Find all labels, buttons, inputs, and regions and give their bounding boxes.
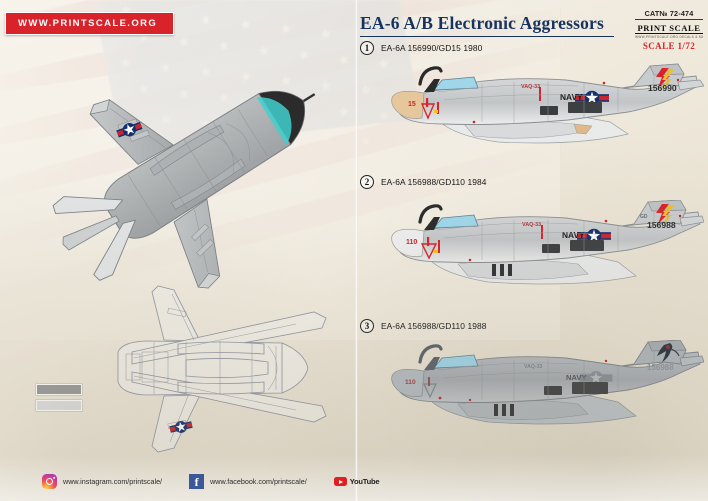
profile-caption-2: 2 EA-6A 156988/GD110 1984 <box>360 175 487 189</box>
bureau-number-2: 156988 <box>647 220 676 230</box>
youtube-link[interactable]: YouTube <box>334 477 380 486</box>
youtube-label: YouTube <box>350 477 380 486</box>
decal-sheet: ★★★★★★★★★★★★★★★★★★★★★★★★★★★★★★★★★★★ WWW.… <box>0 0 708 501</box>
facebook-url[interactable]: www.facebook.com/printscale/ <box>210 477 307 486</box>
facebook-icon: f <box>189 474 204 489</box>
nose-code-2: 110 <box>406 239 417 246</box>
nose-code-1: 15 <box>408 101 416 108</box>
facebook-link[interactable]: f www.facebook.com/printscale/ <box>189 474 307 489</box>
profile-caption-1: 1 EA-6A 156990/GD15 1980 <box>360 41 482 55</box>
tail-code-2: GD <box>640 214 648 220</box>
page-fold-line <box>355 0 358 501</box>
profile-caption-text-2: EA-6A 156988/GD110 1984 <box>381 177 487 187</box>
printscale-logo-subtitle: WWW.PRINTSCALE.ORG DECALS & MASKS <box>635 35 703 39</box>
printscale-logo: PRINT SCALE <box>635 23 703 35</box>
scale-label: SCALE 1/72 <box>635 41 703 51</box>
profile-number-2: 2 <box>360 175 374 189</box>
color-swatch-light-gull-gray <box>36 384 82 395</box>
instagram-url[interactable]: www.instagram.com/printscale/ <box>63 477 162 486</box>
aircraft-profile-1: 156990 NAVY VAQ-33 15 <box>378 62 704 162</box>
catalog-number: CAT№ 72-474 <box>635 9 703 20</box>
social-links-bar: www.instagram.com/printscale/ f www.face… <box>42 474 379 489</box>
youtube-icon <box>334 477 347 486</box>
plan-view-bottom <box>100 282 350 457</box>
bureau-number-1: 156990 <box>648 83 677 93</box>
service-title-3: NAVY <box>566 373 587 382</box>
instagram-icon <box>42 474 57 489</box>
profile-caption-text-3: EA-6A 156988/GD110 1988 <box>381 321 487 331</box>
printscale-logo-text: PRINT SCALE <box>638 23 701 33</box>
service-title-1: NAVY <box>560 92 583 102</box>
catalog-block: CAT№ 72-474 PRINT SCALE WWW.PRINTSCALE.O… <box>635 9 703 51</box>
profile-caption-text-1: EA-6A 156990/GD15 1980 <box>381 43 482 53</box>
printscale-url-banner[interactable]: WWW.PRINTSCALE.ORG <box>5 12 174 35</box>
underwing-stores-2 <box>492 264 512 276</box>
service-title-2: NAVY <box>562 230 585 240</box>
instagram-link[interactable]: www.instagram.com/printscale/ <box>42 474 162 489</box>
bureau-number-3: 156988 <box>647 363 674 372</box>
nose-code-3: 110 <box>405 379 416 386</box>
squadron-code-3: VAQ-33 <box>524 364 542 370</box>
color-swatch-insignia-white <box>36 400 82 411</box>
aircraft-profile-3: 156988 NAVY VAQ-33 110 <box>378 340 704 440</box>
profile-number-1: 1 <box>360 41 374 55</box>
profile-caption-3: 3 EA-6A 156988/GD110 1988 <box>360 319 487 333</box>
underwing-stores-3 <box>494 404 514 416</box>
page-title: EA-6 A/B Electronic Aggressors <box>360 13 614 37</box>
profile-number-3: 3 <box>360 319 374 333</box>
aircraft-profile-2: 156988 GD NAVY VAQ-33 110 <box>378 200 704 300</box>
plan-view-top <box>40 52 340 292</box>
